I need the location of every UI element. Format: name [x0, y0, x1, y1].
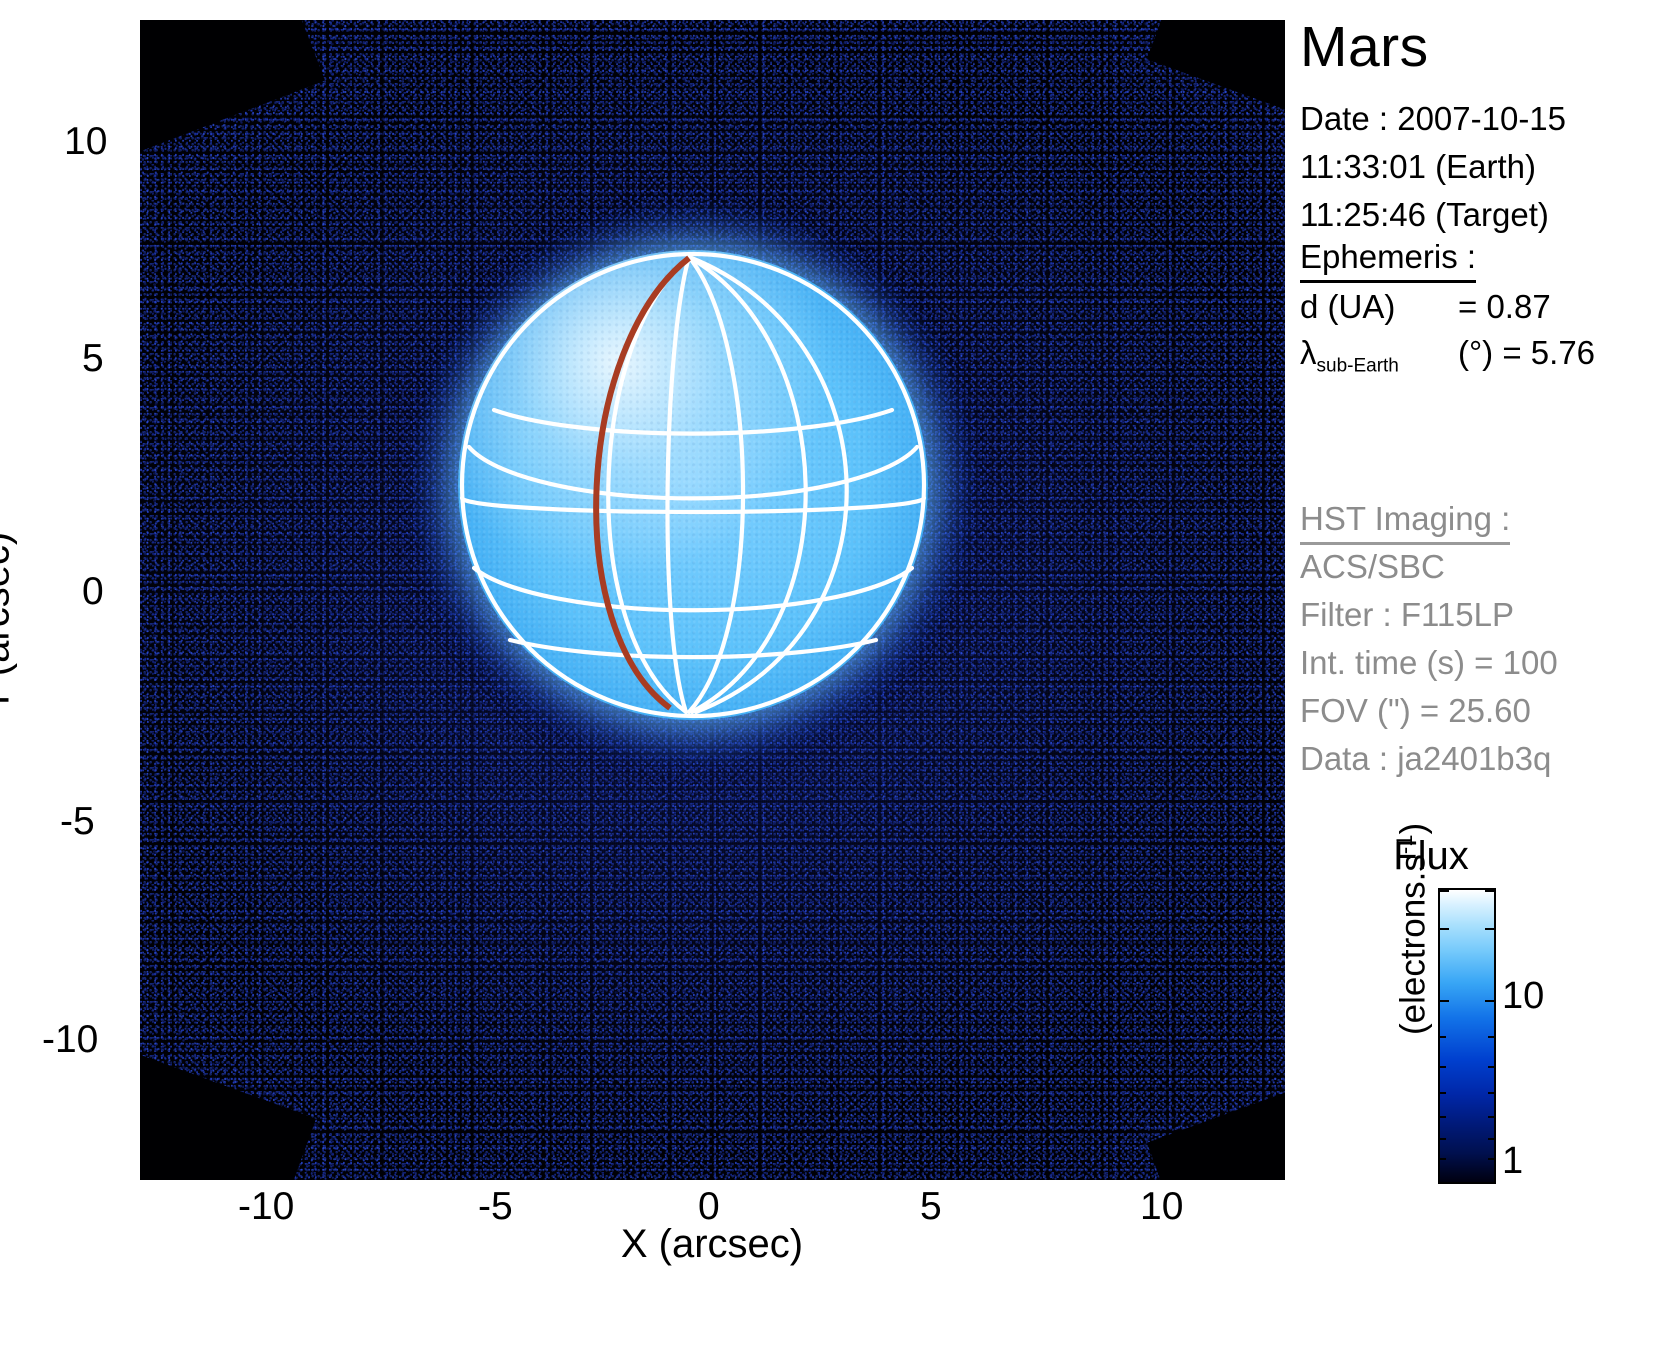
- cb-tick-minor-r1: [1488, 1036, 1494, 1038]
- x-tick-m10: -10: [238, 1185, 294, 1229]
- x-axis-title: X (arcsec): [621, 1222, 803, 1267]
- info-panel: Mars Date : 2007-10-15 11:33:01 (Earth) …: [1300, 0, 1676, 1367]
- cb-tick-minor-r2: [1488, 1066, 1494, 1068]
- instrument-int-time: Int. time (s) = 100: [1300, 644, 1558, 682]
- flux-colorbar: [1438, 888, 1496, 1184]
- observation-date: Date : 2007-10-15: [1300, 100, 1566, 138]
- latitude-m60: [510, 640, 876, 657]
- instrument-filter: Filter : F115LP: [1300, 596, 1514, 634]
- cb-tick-r1: [1485, 928, 1494, 930]
- observation-time-earth: 11:33:01 (Earth): [1300, 148, 1536, 186]
- ephemeris-key-distance: d (UA): [1300, 288, 1458, 326]
- y-tick-0: 0: [82, 570, 104, 614]
- x-tick-5: 5: [920, 1185, 942, 1229]
- cb-tick-minor-l4: [1440, 1116, 1446, 1118]
- ephemeris-row-lambda: λsub-Earth(°) = 5.76: [1300, 334, 1595, 378]
- colorbar-tick-1: 1: [1502, 1140, 1523, 1183]
- ephemeris-value-lambda: = 5.76: [1502, 334, 1595, 371]
- mars-disk: [458, 250, 928, 720]
- latitude-30: [469, 447, 917, 498]
- y-tick-5: 5: [82, 337, 104, 381]
- cb-tick-minor-r6: [1488, 1158, 1494, 1160]
- colorbar-axis-label: (electrons.s-1): [1392, 823, 1434, 1035]
- cb-tick-top-left: [1440, 890, 1449, 892]
- cb-tick-minor-l2: [1440, 1066, 1446, 1068]
- cb-tick-l1: [1440, 928, 1449, 930]
- cb-tick-minor-l3: [1440, 1092, 1446, 1094]
- ephemeris-heading: Ephemeris :: [1300, 238, 1476, 283]
- colorbar-unit-suffix: ): [1394, 823, 1433, 835]
- y-tick-m10: -10: [42, 1018, 98, 1062]
- cb-tick-r2: [1485, 1000, 1494, 1002]
- cb-tick-minor-l6: [1440, 1158, 1446, 1160]
- colorbar-tick-10: 10: [1502, 975, 1544, 1018]
- cb-tick-minor-r3: [1488, 1092, 1494, 1094]
- ephemeris-row-distance: d (UA)= 0.87: [1300, 288, 1551, 326]
- colorbar-unit-prefix: (electrons.s: [1394, 854, 1433, 1035]
- cb-tick-l2: [1440, 1000, 1449, 1002]
- lambda-symbol: λ: [1300, 334, 1317, 371]
- cb-tick-minor-r5: [1488, 1138, 1494, 1140]
- lambda-subscript: sub-Earth: [1317, 356, 1399, 377]
- graticule-overlay: [458, 250, 928, 720]
- y-axis-title: Y (arcsec): [0, 532, 19, 714]
- target-title: Mars: [1300, 14, 1429, 80]
- latitude-m30: [474, 568, 912, 610]
- meridian-east-30: [689, 257, 743, 712]
- ephemeris-key-lambda: λsub-Earth: [1300, 334, 1458, 378]
- cb-tick-minor-l1: [1440, 1036, 1446, 1038]
- instrument-data-id: Data : ja2401b3q: [1300, 740, 1551, 778]
- ephemeris-value-distance: = 0.87: [1458, 288, 1551, 325]
- cb-tick-top-right: [1485, 890, 1494, 892]
- cb-tick-minor-r4: [1488, 1116, 1494, 1118]
- instrument-heading: HST Imaging :: [1300, 500, 1510, 545]
- instrument-fov: FOV (") = 25.60: [1300, 692, 1531, 730]
- image-plot-area: [140, 20, 1285, 1180]
- instrument-detector: ACS/SBC: [1300, 548, 1445, 586]
- latitude-60: [494, 410, 892, 434]
- meridian-center-0: [667, 257, 689, 712]
- observation-time-target: 11:25:46 (Target): [1300, 196, 1549, 234]
- colorbar-unit-exponent: -1: [1392, 835, 1417, 855]
- lambda-unit: (°): [1458, 334, 1493, 371]
- x-tick-10: 10: [1140, 1185, 1183, 1229]
- cb-tick-minor-l5: [1440, 1138, 1446, 1140]
- y-tick-10: 10: [64, 120, 107, 164]
- y-tick-m5: -5: [60, 800, 95, 844]
- x-tick-m5: -5: [478, 1185, 513, 1229]
